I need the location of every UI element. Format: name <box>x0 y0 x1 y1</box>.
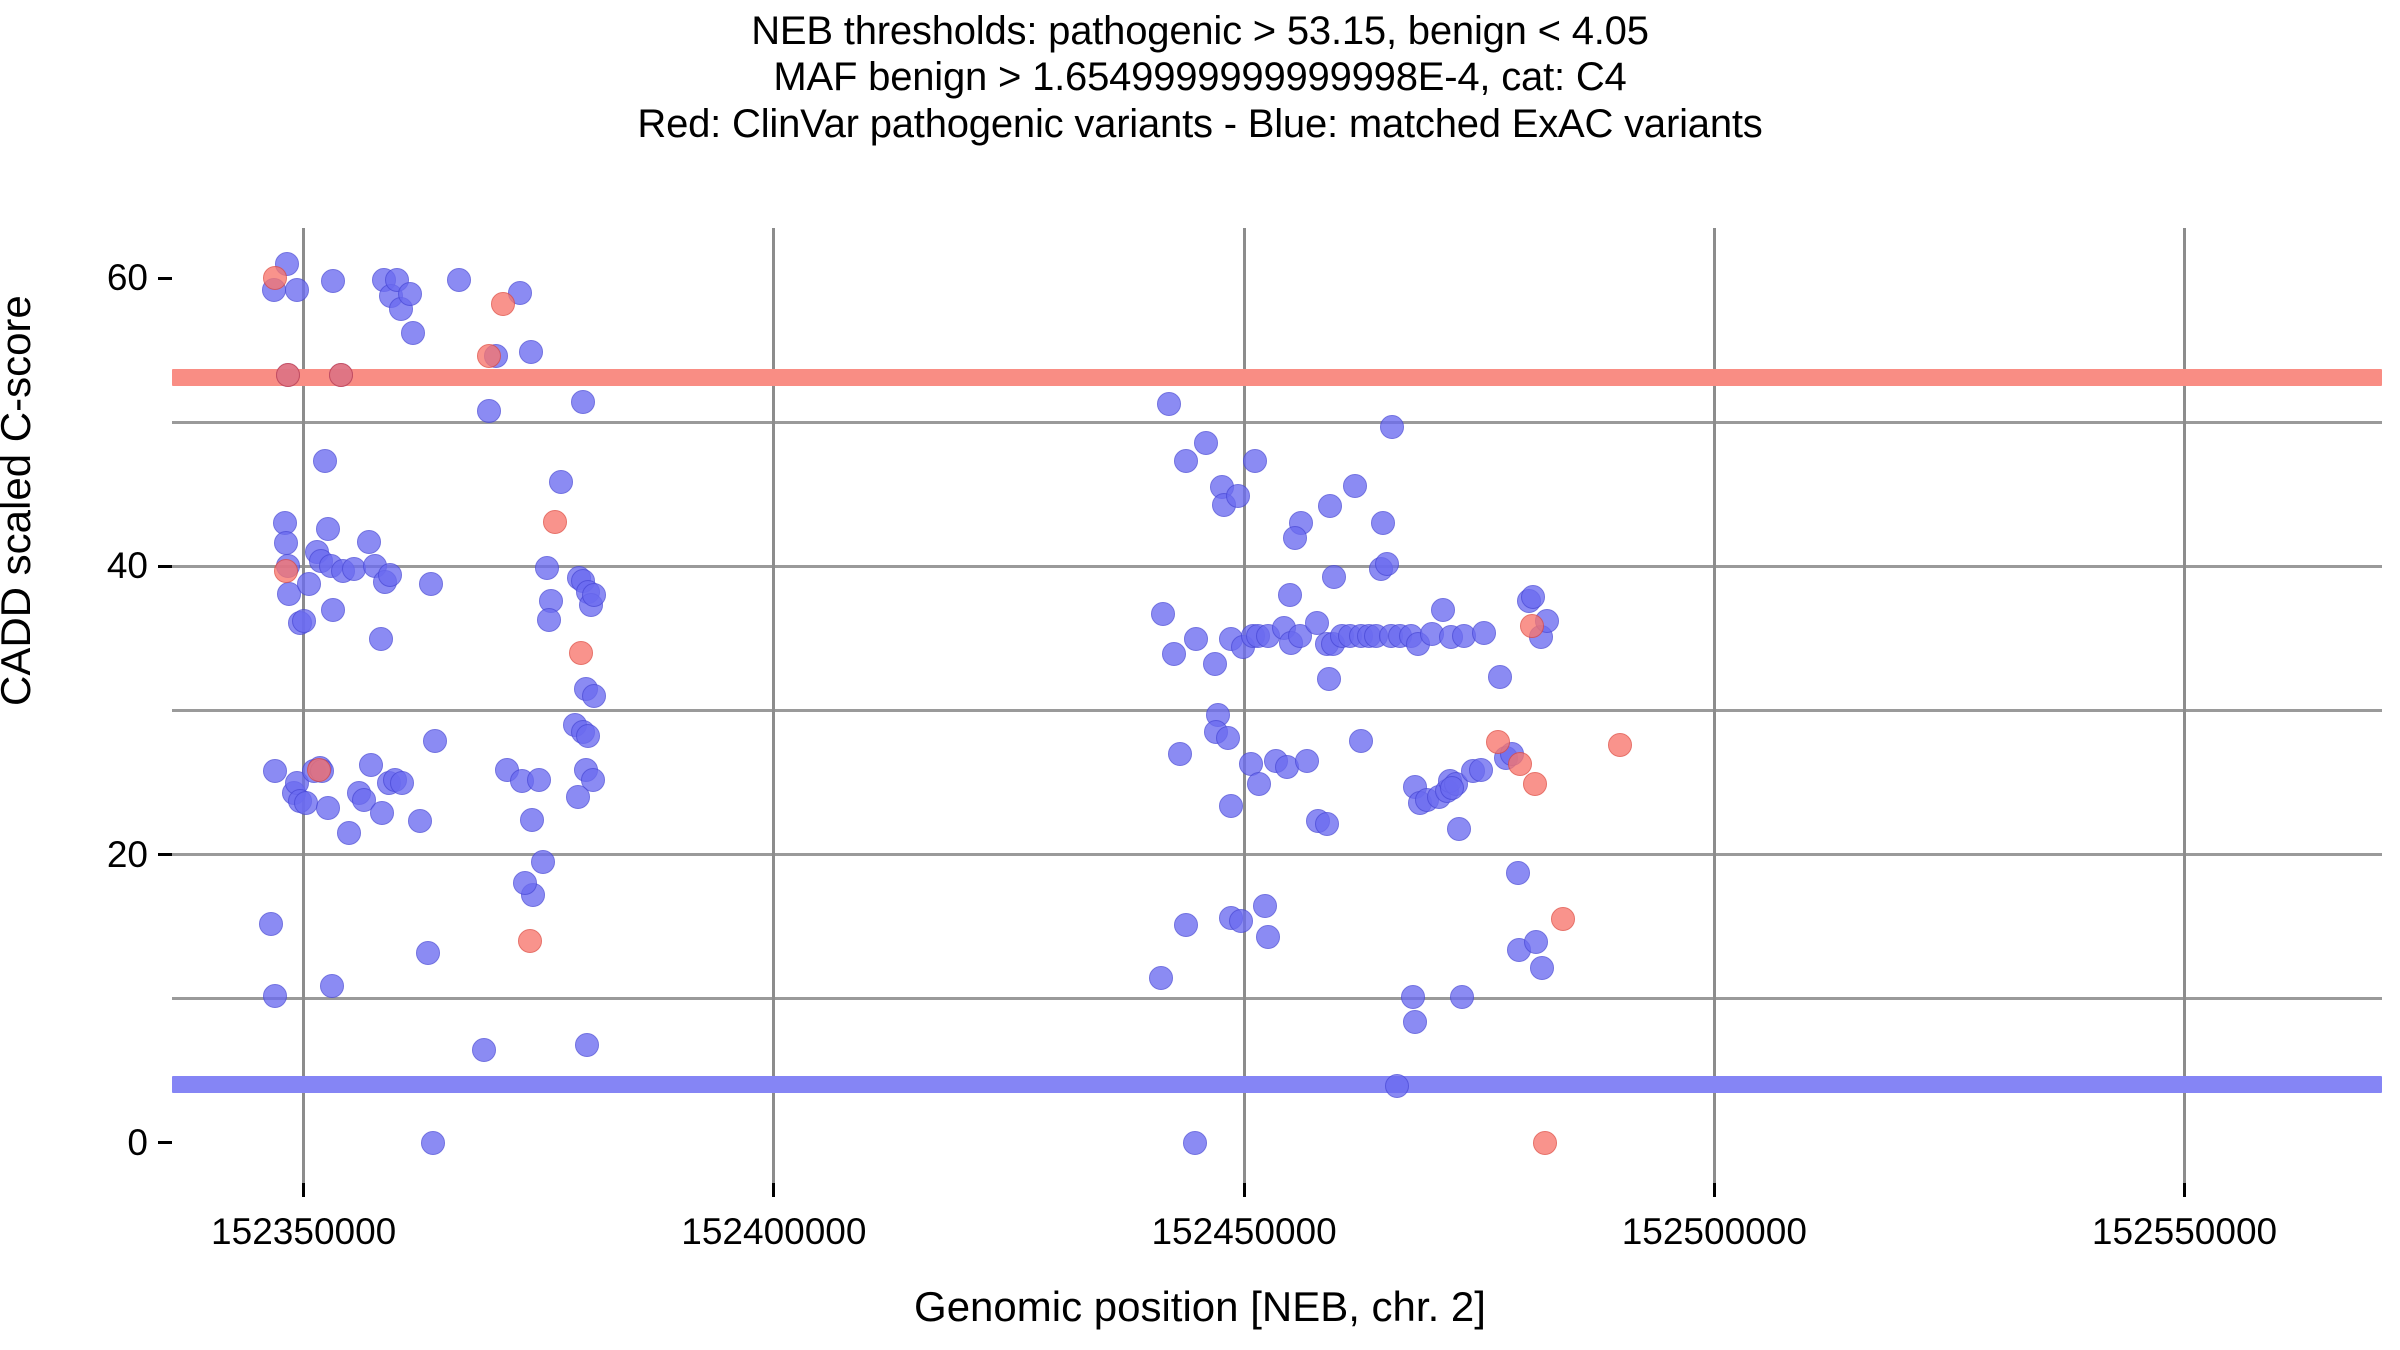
grid-line-horizontal <box>172 853 2382 856</box>
data-point <box>285 278 309 302</box>
data-point <box>472 1038 496 1062</box>
x-tick-mark <box>2183 1183 2186 1197</box>
data-point <box>408 809 432 833</box>
y-tick-label: 60 <box>107 257 148 299</box>
data-point <box>1380 415 1404 439</box>
x-tick-label: 152400000 <box>681 1211 866 1253</box>
data-point <box>569 641 593 665</box>
data-point <box>294 791 318 815</box>
data-point <box>1183 1131 1207 1155</box>
data-point <box>1375 552 1399 576</box>
data-point <box>549 470 573 494</box>
y-tick-label: 40 <box>107 545 148 587</box>
x-tick-label: 152350000 <box>211 1211 396 1253</box>
data-point <box>1533 1131 1557 1155</box>
data-point <box>416 941 440 965</box>
data-point <box>337 821 361 845</box>
data-point <box>1450 985 1474 1009</box>
data-point <box>1226 484 1250 508</box>
data-point <box>1431 598 1455 622</box>
data-point <box>575 1033 599 1057</box>
plot-area <box>172 228 2382 1183</box>
data-point <box>276 363 300 387</box>
x-axis-title: Genomic position [NEB, chr. 2] <box>0 1283 2400 1331</box>
data-point <box>1488 665 1512 689</box>
data-point <box>1229 909 1253 933</box>
data-point <box>1151 602 1175 626</box>
data-point <box>292 609 316 633</box>
data-point <box>576 724 600 748</box>
data-point <box>263 759 287 783</box>
data-point <box>398 282 422 306</box>
data-point <box>1469 758 1493 782</box>
data-point <box>582 684 606 708</box>
x-tick-label: 152500000 <box>1622 1211 1807 1253</box>
data-point <box>1349 729 1373 753</box>
threshold-band-benign <box>172 1076 2382 1093</box>
data-point <box>313 449 337 473</box>
data-point <box>357 530 381 554</box>
title-line-2: MAF benign > 1.6549999999999998E-4, cat:… <box>0 54 2400 100</box>
data-point <box>1184 627 1208 651</box>
data-point <box>1343 474 1367 498</box>
data-point <box>543 510 567 534</box>
data-point <box>1385 1074 1409 1098</box>
data-point <box>527 768 551 792</box>
data-point <box>531 850 555 874</box>
data-point <box>1608 733 1632 757</box>
data-point <box>320 974 344 998</box>
data-point <box>1219 794 1243 818</box>
data-point <box>1305 611 1329 635</box>
data-point <box>1194 431 1218 455</box>
data-point <box>1247 772 1271 796</box>
data-point <box>571 390 595 414</box>
data-point <box>1523 772 1547 796</box>
data-point <box>1401 985 1425 1009</box>
data-point <box>1506 861 1530 885</box>
data-point <box>259 912 283 936</box>
data-point <box>518 929 542 953</box>
data-point <box>419 572 443 596</box>
data-point <box>1521 585 1545 609</box>
data-point <box>1315 812 1339 836</box>
data-point <box>1371 511 1395 535</box>
data-point <box>491 292 515 316</box>
y-tick-mark <box>158 565 172 568</box>
data-point <box>390 771 414 795</box>
data-point <box>1508 752 1532 776</box>
grid-line-horizontal <box>172 565 2382 568</box>
data-point <box>1472 621 1496 645</box>
data-point <box>1243 449 1267 473</box>
data-point <box>1149 966 1173 990</box>
data-point <box>316 796 340 820</box>
data-point <box>369 627 393 651</box>
threshold-band-pathogenic <box>172 369 2382 386</box>
data-point <box>307 758 331 782</box>
data-point <box>1530 956 1554 980</box>
data-point <box>274 531 298 555</box>
data-point <box>321 269 345 293</box>
data-point <box>316 517 340 541</box>
data-point <box>513 871 537 895</box>
data-point <box>1157 392 1181 416</box>
data-point <box>519 340 543 364</box>
data-point <box>1278 583 1302 607</box>
data-point <box>477 344 501 368</box>
title-line-1: NEB thresholds: pathogenic > 53.15, beni… <box>0 8 2400 54</box>
data-point <box>535 556 559 580</box>
data-point <box>1283 526 1307 550</box>
x-tick-label: 152550000 <box>2092 1211 2277 1253</box>
data-point <box>566 785 590 809</box>
data-point <box>1524 930 1548 954</box>
data-point <box>1322 565 1346 589</box>
y-tick-mark <box>158 853 172 856</box>
y-tick-label: 0 <box>127 1122 148 1164</box>
data-point <box>423 729 447 753</box>
title-line-3: Red: ClinVar pathogenic variants - Blue:… <box>0 101 2400 147</box>
data-point <box>1174 913 1198 937</box>
data-point <box>421 1131 445 1155</box>
x-tick-mark <box>1243 1183 1246 1197</box>
data-point <box>520 808 544 832</box>
data-point <box>1403 1010 1427 1034</box>
data-point <box>1295 749 1319 773</box>
x-tick-mark <box>1713 1183 1716 1197</box>
data-point <box>1174 449 1198 473</box>
data-point <box>1318 494 1342 518</box>
data-point <box>1162 642 1186 666</box>
data-point <box>1216 726 1240 750</box>
grid-line-horizontal <box>172 421 2382 424</box>
data-point <box>477 399 501 423</box>
data-point <box>447 268 471 292</box>
data-point <box>321 598 345 622</box>
data-point <box>1253 894 1277 918</box>
data-point <box>1551 907 1575 931</box>
data-point <box>1317 667 1341 691</box>
data-point <box>263 984 287 1008</box>
data-point <box>1203 652 1227 676</box>
data-point <box>274 559 298 583</box>
data-point <box>1440 776 1464 800</box>
data-point <box>1520 614 1544 638</box>
y-tick-mark <box>158 1141 172 1144</box>
data-point <box>537 608 561 632</box>
x-tick-label: 152450000 <box>1151 1211 1336 1253</box>
x-tick-mark <box>772 1183 775 1197</box>
y-tick-mark <box>158 277 172 280</box>
grid-line-horizontal <box>172 997 2382 1000</box>
data-point <box>401 321 425 345</box>
data-point <box>1256 925 1280 949</box>
y-tick-label: 20 <box>107 834 148 876</box>
y-axis-title: CADD scaled C-score <box>0 295 40 706</box>
data-point <box>370 801 394 825</box>
data-point <box>1447 817 1471 841</box>
chart-title: NEB thresholds: pathogenic > 53.15, beni… <box>0 8 2400 147</box>
data-point <box>1168 742 1192 766</box>
data-point <box>378 563 402 587</box>
grid-line-horizontal <box>172 709 2382 712</box>
data-point <box>297 572 321 596</box>
x-tick-mark <box>302 1183 305 1197</box>
scatter-plot-figure: NEB thresholds: pathogenic > 53.15, beni… <box>0 0 2400 1350</box>
